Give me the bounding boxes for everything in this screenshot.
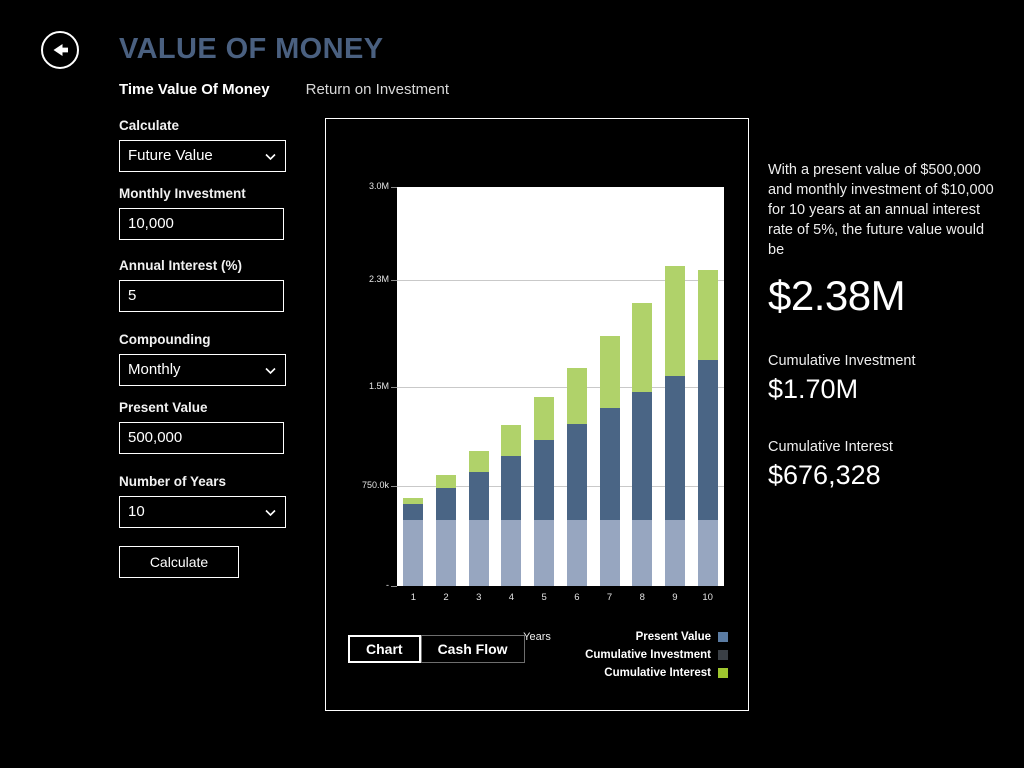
x-axis-tick-label: 4 [498,592,524,603]
x-axis-tick-label: 9 [662,592,688,603]
field-annual-interest: Annual Interest (%) 5 [119,258,319,312]
label-present-value: Present Value [119,400,319,416]
legend-item-cumulative-interest: Cumulative Interest [604,667,728,679]
y-axis-tick-label: - [326,580,389,590]
x-axis-tick-label: 5 [531,592,557,603]
compounding-select[interactable]: Monthly [119,354,286,386]
chart-bar-segment [501,425,521,456]
chart-bar[interactable] [436,187,456,586]
legend-item-present-value: Present Value [636,631,728,643]
chart-bar[interactable] [501,187,521,586]
chart-bar-segment [403,504,423,520]
result-label-cumulative-investment: Cumulative Investment [768,352,998,370]
chart-bar[interactable] [632,187,652,586]
chart-bar-segment [665,520,685,587]
calculate-select-value: Future Value [128,141,260,171]
legend-label-cumulative-interest: Cumulative Interest [604,667,711,679]
legend-label-present-value: Present Value [636,631,711,643]
chart-bar-segment [501,520,521,587]
annual-interest-input-wrap[interactable]: 5 [119,280,284,312]
x-axis-tick-label: 8 [629,592,655,603]
x-axis-tick-label: 10 [695,592,721,603]
back-arrow-icon [49,39,71,61]
number-of-years-select-value: 10 [128,497,260,527]
chart-bar-segment [534,520,554,587]
x-axis-tick-label: 3 [466,592,492,603]
chart-bar[interactable] [403,187,423,586]
chart-bar-segment [469,472,489,520]
cash-flow-view-button[interactable]: Cash Flow [421,635,525,663]
legend-item-cumulative-investment: Cumulative Investment [585,649,728,661]
monthly-investment-input[interactable]: 10,000 [128,209,275,239]
chart-view-toggle: Chart Cash Flow [348,635,525,663]
chart-bar-segment [698,520,718,587]
chart-bar[interactable] [469,187,489,586]
chart-bar-segment [698,360,718,520]
chart-bar-segment [534,397,554,439]
legend-swatch-cumulative-interest [718,668,728,678]
annual-interest-input[interactable]: 5 [128,281,275,311]
x-axis-tick-label: 7 [597,592,623,603]
chart-bar-segment [600,520,620,587]
field-calculate: Calculate Future Value [119,118,319,172]
chart-bar-segment [403,520,423,587]
result-cumulative-investment: Cumulative Investment $1.70M [768,352,998,406]
legend-label-cumulative-investment: Cumulative Investment [585,649,711,661]
chart-bar-segment [436,475,456,488]
y-axis-tick-mark [391,586,397,587]
results-summary-text: With a present value of $500,000 and mon… [768,160,998,260]
chart-card: 3.0M2.3M1.5M750.0k- 12345678910 Years Ch… [325,118,749,711]
chart-bar-segment [698,270,718,360]
future-value-amount: $2.38M [768,272,998,320]
y-axis-tick-label: 2.3M [326,274,389,284]
compounding-select-value: Monthly [128,355,260,385]
legend-swatch-present-value [718,632,728,642]
x-axis-tick-label: 1 [400,592,426,603]
chart-bar-segment [436,520,456,587]
number-of-years-select[interactable]: 10 [119,496,286,528]
page-title: VALUE OF MONEY [119,33,383,66]
chart-bar-segment [469,451,489,472]
x-axis-tick-label: 6 [564,592,590,603]
chart-bar-segment [501,456,521,520]
y-axis-tick-label: 3.0M [326,181,389,191]
calculate-button[interactable]: Calculate [119,546,239,578]
results-panel: With a present value of $500,000 and mon… [768,160,998,492]
x-axis-tick-label: 2 [433,592,459,603]
label-compounding: Compounding [119,332,319,348]
present-value-input[interactable]: 500,000 [128,423,275,453]
chart-bar-segment [567,520,587,587]
field-number-of-years: Number of Years 10 [119,474,319,528]
chart-bar[interactable] [567,187,587,586]
label-number-of-years: Number of Years [119,474,319,490]
chart-bar-segment [665,376,685,520]
calculate-select[interactable]: Future Value [119,140,286,172]
legend-swatch-cumulative-investment [718,650,728,660]
chart-bar-segment [632,392,652,520]
chart-view-button[interactable]: Chart [348,635,421,663]
label-annual-interest: Annual Interest (%) [119,258,319,274]
field-compounding: Compounding Monthly [119,332,319,386]
result-cumulative-interest: Cumulative Interest $676,328 [768,438,998,492]
label-calculate: Calculate [119,118,319,134]
result-value-cumulative-investment: $1.70M [768,372,998,406]
chart-bar-segment [469,520,489,587]
chart-plot-area [397,187,724,586]
tab-bar: Time Value Of Money Return on Investment [119,81,449,98]
back-button[interactable] [41,31,79,69]
field-monthly-investment: Monthly Investment 10,000 [119,186,319,240]
chart-bar-segment [567,368,587,424]
calculator-form: Calculate Future Value Monthly Investmen… [119,118,319,578]
monthly-investment-input-wrap[interactable]: 10,000 [119,208,284,240]
present-value-input-wrap[interactable]: 500,000 [119,422,284,454]
y-axis-tick-label: 1.5M [326,381,389,391]
result-label-cumulative-interest: Cumulative Interest [768,438,998,456]
chart-bar-segment [665,266,685,376]
chevron-down-icon [264,506,277,519]
chart-bar-segment [436,488,456,520]
label-monthly-investment: Monthly Investment [119,186,319,202]
app-root: VALUE OF MONEY Time Value Of Money Retur… [0,0,1024,768]
tab-return-on-investment[interactable]: Return on Investment [306,81,449,98]
tab-time-value-of-money[interactable]: Time Value Of Money [119,81,270,98]
chart-bar-segment [600,336,620,407]
chart-bar-segment [403,498,423,504]
chevron-down-icon [264,150,277,163]
result-value-cumulative-interest: $676,328 [768,458,998,492]
chart-bar-segment [534,440,554,520]
chart-legend: Present Value Cumulative Investment Cumu… [585,631,728,679]
chart-bar-segment [632,303,652,392]
chart-bar-segment [600,408,620,520]
chevron-down-icon [264,364,277,377]
y-axis-tick-label: 750.0k [326,480,389,490]
chart-bar[interactable] [665,187,685,586]
chart-bar[interactable] [534,187,554,586]
chart-bar[interactable] [600,187,620,586]
field-present-value: Present Value 500,000 [119,400,319,454]
chart-bar-segment [567,424,587,520]
chart-bar-segment [632,520,652,587]
chart-bar[interactable] [698,187,718,586]
